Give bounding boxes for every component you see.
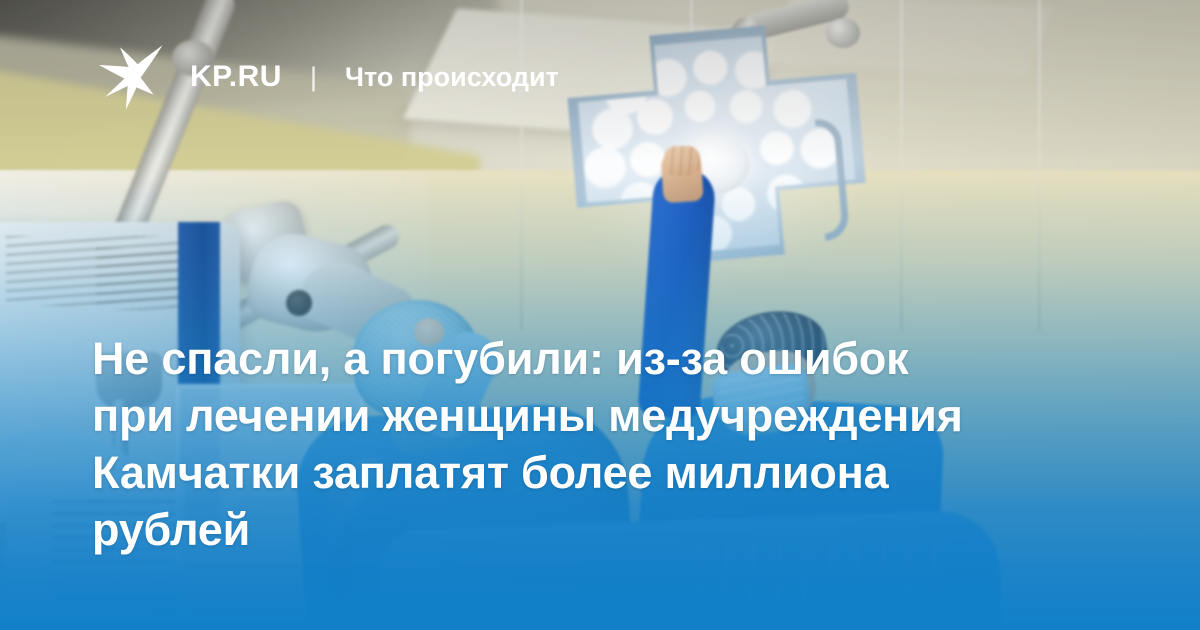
wall-seam	[1038, 0, 1041, 330]
brand-separator: |	[308, 64, 319, 91]
wall-seam	[900, 0, 903, 330]
arm-pivot-bolt	[286, 290, 312, 316]
rubric-label: Что происходит	[345, 64, 559, 91]
brand-name: KP.RU	[190, 62, 282, 92]
article-headline: Не спасли, а погубили: из-за ошибок при …	[92, 330, 1042, 558]
surgeon-right-fingers	[664, 146, 700, 176]
swallow-bird-icon	[96, 44, 164, 110]
social-share-card: KP.RU | Что происходит Не спасли, а погу…	[0, 0, 1200, 630]
brand-header: KP.RU | Что происходит	[96, 44, 559, 110]
